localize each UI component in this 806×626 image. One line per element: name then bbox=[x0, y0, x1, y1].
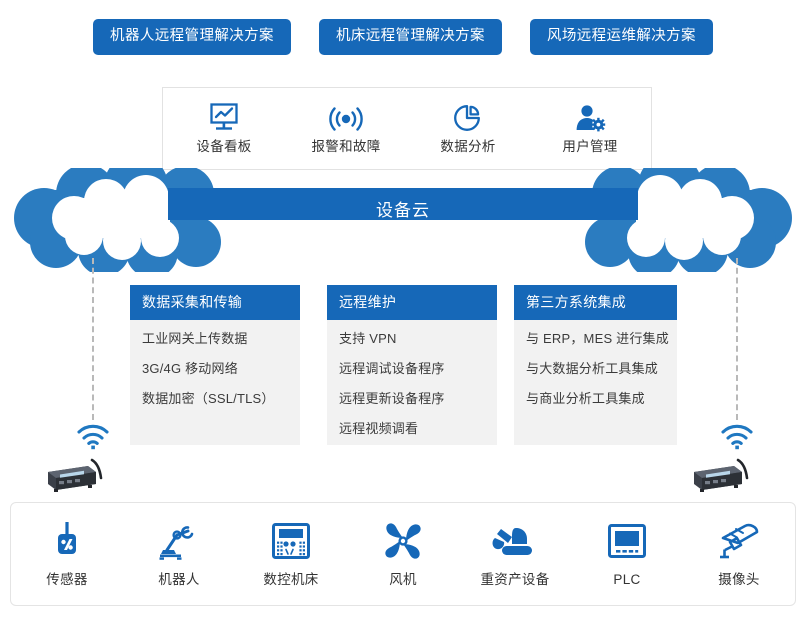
connected-device-bar: 传感器 机器人 bbox=[10, 502, 796, 606]
panel-item: 远程调试设备程序 bbox=[339, 362, 485, 375]
feature-label-user-management: 用户管理 bbox=[562, 140, 617, 154]
panel-title: 数据采集和传输 bbox=[130, 285, 300, 320]
device-label-heavy-asset: 重资产设备 bbox=[481, 573, 550, 587]
signal-broadcast-icon bbox=[326, 103, 366, 133]
sensor-icon bbox=[52, 521, 82, 561]
panel-item: 远程更新设备程序 bbox=[339, 392, 485, 405]
device-item-robot[interactable]: 机器人 bbox=[123, 521, 235, 587]
device-item-plc[interactable]: PLC bbox=[571, 521, 683, 587]
industrial-gateway-icon bbox=[44, 456, 120, 496]
plc-icon bbox=[607, 521, 647, 561]
panel-item: 与商业分析工具集成 bbox=[526, 392, 665, 405]
device-item-fan[interactable]: 风机 bbox=[347, 521, 459, 587]
pie-chart-icon bbox=[452, 103, 484, 133]
device-item-camera[interactable]: 摄像头 bbox=[683, 521, 795, 587]
panel-title: 远程维护 bbox=[327, 285, 497, 320]
panel-item: 数据加密（SSL/TLS） bbox=[142, 392, 288, 405]
robot-arm-icon bbox=[158, 521, 200, 561]
device-cloud-band bbox=[0, 168, 806, 272]
panel-title: 第三方系统集成 bbox=[514, 285, 677, 320]
feature-label-alarm: 报警和故障 bbox=[312, 140, 381, 154]
solution-button-machine-tool[interactable]: 机床远程管理解决方案 bbox=[319, 19, 502, 55]
device-item-sensor[interactable]: 传感器 bbox=[11, 521, 123, 587]
panel-item: 支持 VPN bbox=[339, 332, 485, 345]
feature-item-analytics[interactable]: 数据分析 bbox=[407, 103, 529, 154]
user-gear-icon bbox=[573, 103, 607, 133]
monitor-chart-icon bbox=[207, 103, 241, 133]
cnc-machine-icon bbox=[271, 521, 311, 561]
feature-item-user-management[interactable]: 用户管理 bbox=[529, 103, 651, 154]
feature-item-alarm[interactable]: 报警和故障 bbox=[285, 103, 407, 154]
device-label-cnc: 数控机床 bbox=[263, 573, 318, 587]
panel-item: 与大数据分析工具集成 bbox=[526, 362, 665, 375]
panel-body: 工业网关上传数据 3G/4G 移动网络 数据加密（SSL/TLS） bbox=[130, 320, 300, 405]
feature-item-dashboard[interactable]: 设备看板 bbox=[163, 103, 285, 154]
cctv-camera-icon bbox=[717, 521, 761, 561]
solution-button-bar: 机器人远程管理解决方案 机床远程管理解决方案 风场远程运维解决方案 bbox=[0, 19, 806, 55]
solution-button-robot[interactable]: 机器人远程管理解决方案 bbox=[93, 19, 291, 55]
device-label-plc: PLC bbox=[613, 573, 640, 587]
feature-label-analytics: 数据分析 bbox=[440, 140, 495, 154]
panel-item: 工业网关上传数据 bbox=[142, 332, 288, 345]
device-label-fan: 风机 bbox=[389, 573, 417, 587]
panel-remote-maintenance: 远程维护 支持 VPN 远程调试设备程序 远程更新设备程序 远程视频调看 bbox=[327, 285, 497, 445]
panel-item: 3G/4G 移动网络 bbox=[142, 362, 288, 375]
excavator-icon bbox=[492, 521, 538, 561]
panel-item: 远程视频调看 bbox=[339, 422, 485, 435]
cloud-ribbon-front bbox=[168, 188, 638, 220]
feature-label-dashboard: 设备看板 bbox=[196, 140, 251, 154]
solution-button-wind-farm[interactable]: 风场远程运维解决方案 bbox=[530, 19, 713, 55]
platform-feature-bar: 设备看板 报警和故障 数据分析 bbox=[162, 87, 652, 170]
connector-line-right bbox=[736, 258, 738, 420]
device-label-robot: 机器人 bbox=[158, 573, 199, 587]
panel-item: 与 ERP，MES 进行集成 bbox=[526, 332, 665, 345]
wifi-icon bbox=[720, 424, 754, 450]
industrial-gateway-icon bbox=[690, 456, 766, 496]
wifi-icon bbox=[76, 424, 110, 450]
device-label-sensor: 传感器 bbox=[46, 573, 87, 587]
panel-data-collection: 数据采集和传输 工业网关上传数据 3G/4G 移动网络 数据加密（SSL/TLS… bbox=[130, 285, 300, 445]
panel-third-party-integration: 第三方系统集成 与 ERP，MES 进行集成 与大数据分析工具集成 与商业分析工… bbox=[514, 285, 677, 445]
device-label-camera: 摄像头 bbox=[718, 573, 759, 587]
connector-line-left bbox=[92, 258, 94, 420]
panel-body: 与 ERP，MES 进行集成 与大数据分析工具集成 与商业分析工具集成 bbox=[514, 320, 677, 405]
panel-body: 支持 VPN 远程调试设备程序 远程更新设备程序 远程视频调看 bbox=[327, 320, 497, 435]
device-item-heavy-asset[interactable]: 重资产设备 bbox=[459, 521, 571, 587]
fan-icon bbox=[383, 521, 423, 561]
device-item-cnc[interactable]: 数控机床 bbox=[235, 521, 347, 587]
